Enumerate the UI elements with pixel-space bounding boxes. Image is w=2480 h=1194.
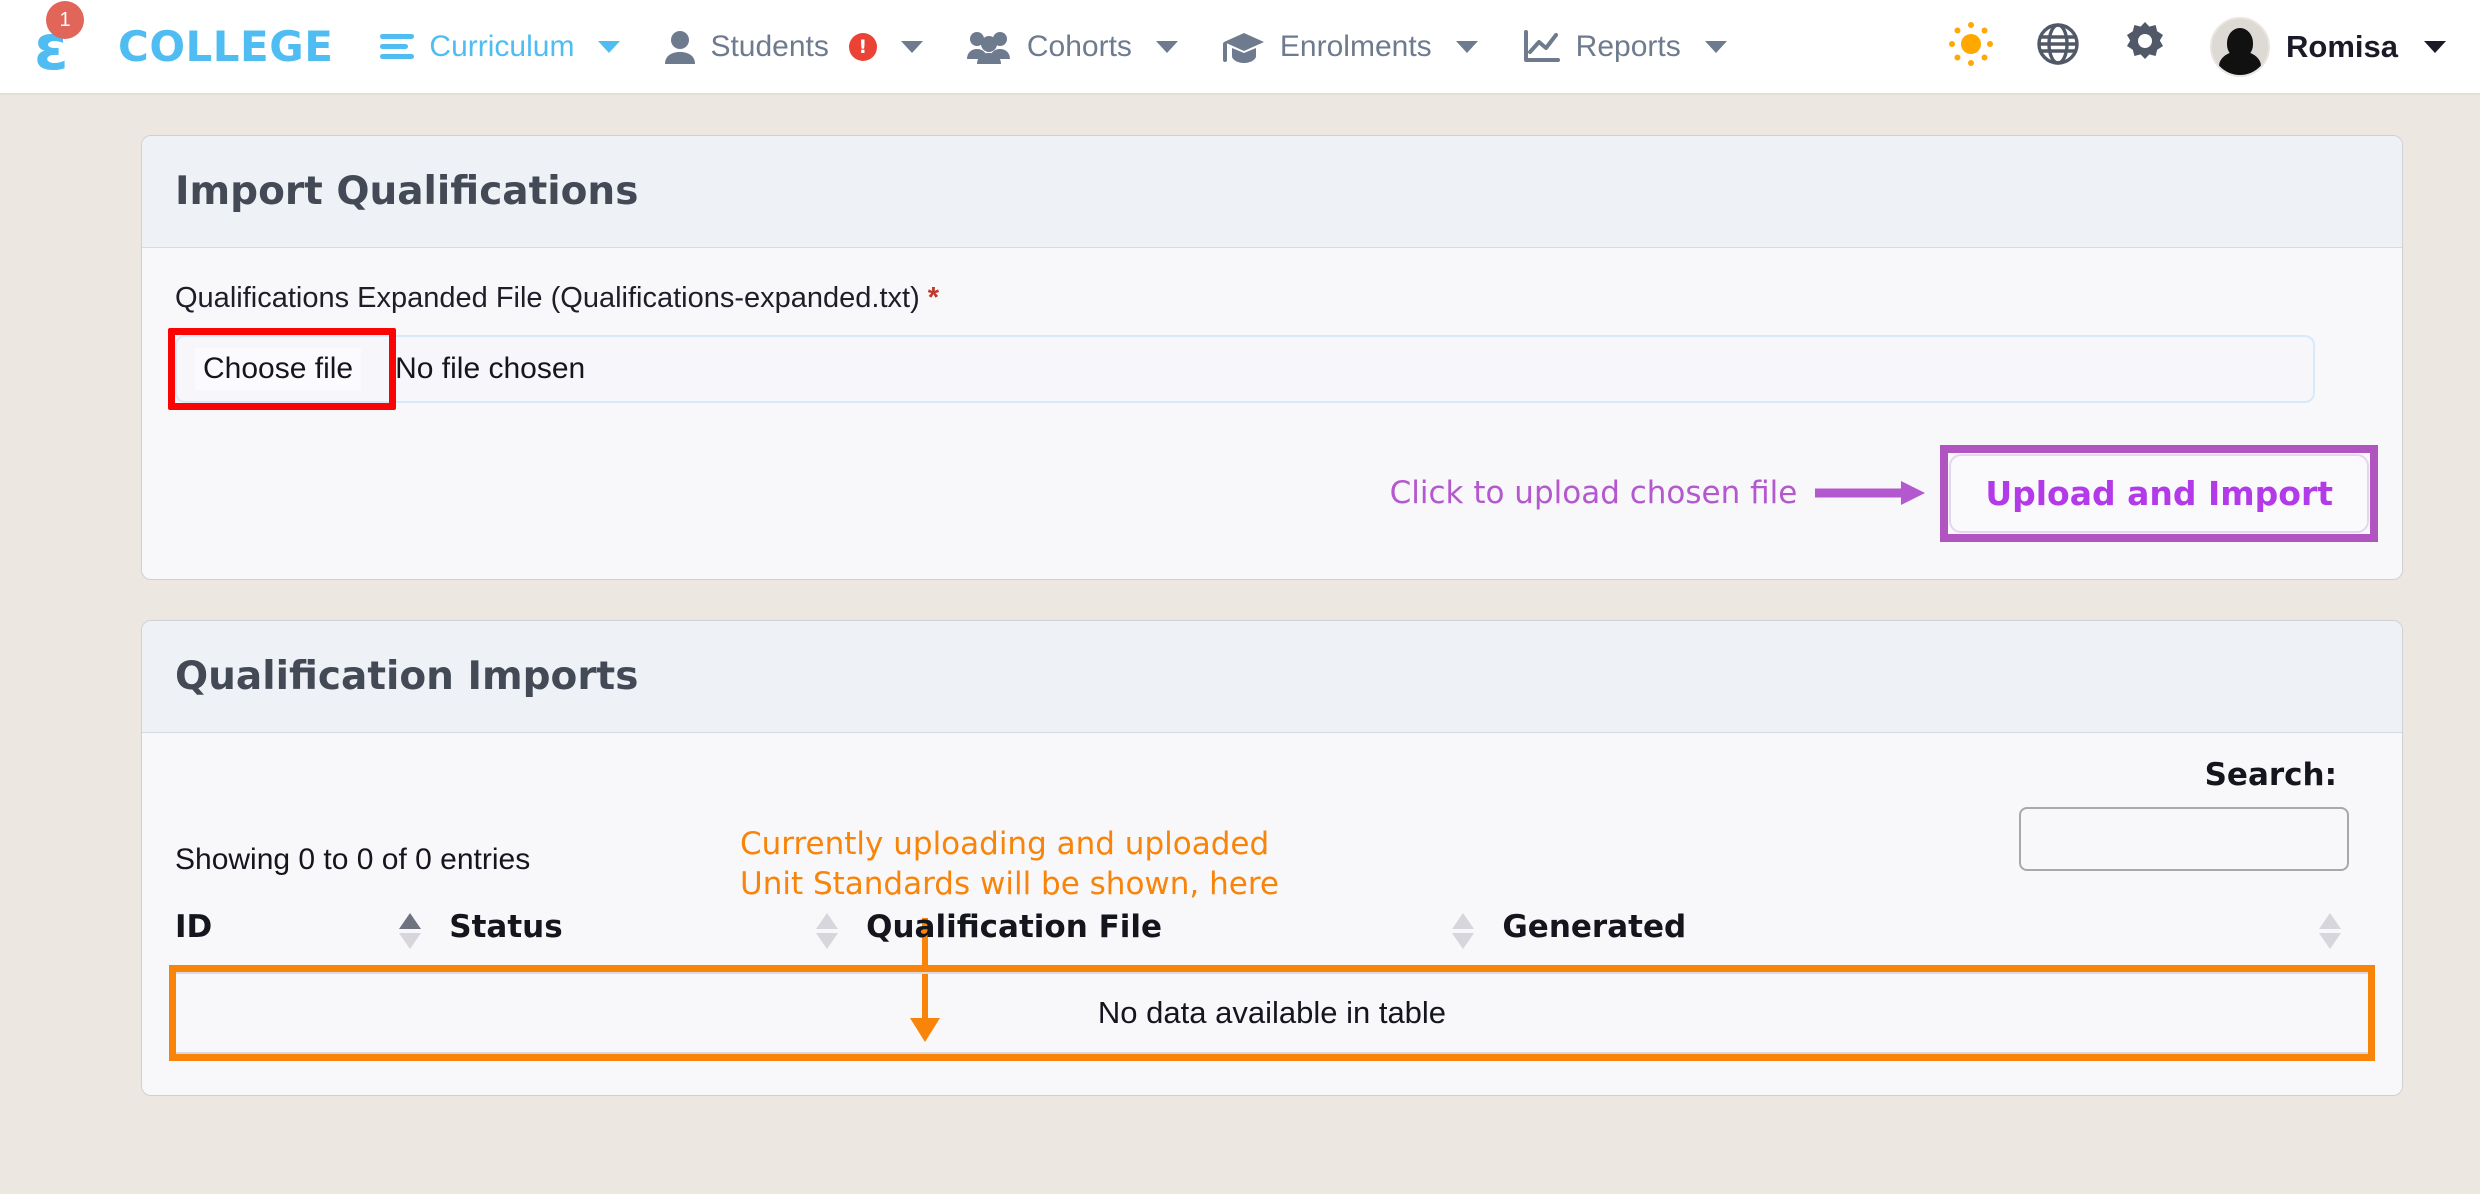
column-label-generated: Generated <box>1502 909 1686 945</box>
annotation-upload-text: Click to upload chosen file <box>1390 475 1798 511</box>
column-header-id[interactable]: ID <box>175 909 449 971</box>
app-logo[interactable]: ε 1 <box>10 0 96 94</box>
table-header-row: ID Status Qualification File Genera <box>175 909 2369 971</box>
chevron-down-icon <box>1705 41 1727 53</box>
chevron-down-icon <box>901 41 923 53</box>
user-menu[interactable]: Romisa <box>2210 17 2446 77</box>
import-qualifications-card: Import Qualifications Qualifications Exp… <box>141 135 2403 580</box>
import-card-body: Qualifications Expanded File (Qualificat… <box>142 248 2402 579</box>
nav-item-students[interactable]: Students ! <box>664 30 922 64</box>
topbar-tools: Romisa <box>1948 17 2480 77</box>
chevron-down-icon <box>1156 41 1178 53</box>
column-header-status[interactable]: Status <box>449 909 866 971</box>
nav-label-cohorts: Cohorts <box>1027 30 1132 64</box>
nav-label-enrolments: Enrolments <box>1280 30 1432 64</box>
hamburger-menu-icon <box>379 32 415 62</box>
nav-item-reports[interactable]: Reports <box>1522 30 1727 64</box>
imports-card-title: Qualification Imports <box>175 654 2402 699</box>
sun-icon[interactable] <box>1948 21 1994 72</box>
brand-title: COLLEGE <box>118 22 333 71</box>
upload-row: Click to upload chosen file Upload and I… <box>175 443 2369 543</box>
nav-label-students: Students <box>710 30 828 64</box>
chevron-down-icon <box>1456 41 1478 53</box>
students-alert-badge: ! <box>849 33 877 61</box>
upload-and-import-button[interactable]: Upload and Import <box>1949 454 2369 533</box>
imports-card-header: Qualification Imports <box>142 621 2402 733</box>
search-input[interactable] <box>2019 807 2349 871</box>
nav-label-curriculum: Curriculum <box>429 30 574 64</box>
nav-item-cohorts[interactable]: Cohorts <box>967 30 1178 64</box>
column-label-id: ID <box>175 909 212 945</box>
person-icon <box>664 30 696 64</box>
sort-icon-status[interactable] <box>816 913 838 953</box>
table-empty-message: No data available in table <box>175 971 2369 1055</box>
graduation-cap-icon <box>1222 30 1266 64</box>
file-field-label-text: Qualifications Expanded File (Qualificat… <box>175 282 920 314</box>
logo-notification-badge: 1 <box>46 1 84 39</box>
gear-icon[interactable] <box>2122 21 2168 72</box>
annotation-table-line-1: Currently uploading and uploaded <box>740 825 1279 865</box>
sort-icon-id[interactable] <box>399 913 421 953</box>
user-avatar-icon <box>2210 17 2270 77</box>
page-title: Import Qualifications <box>175 169 2402 214</box>
qualification-file-input[interactable]: Choose file No file chosen <box>175 335 2315 403</box>
annotation-purple-arrow-icon <box>1815 479 1927 507</box>
chevron-down-icon <box>598 41 620 53</box>
column-label-qualification-file: Qualification File <box>866 909 1162 945</box>
empty-table-row-wrapper: No data available in table <box>175 971 2369 1055</box>
chevron-down-icon <box>2424 41 2446 53</box>
upload-button-wrapper: Upload and Import <box>1949 454 2369 533</box>
user-name-label: Romisa <box>2286 29 2398 65</box>
import-card-header: Import Qualifications <box>142 136 2402 248</box>
file-field-label: Qualifications Expanded File (Qualificat… <box>175 282 2369 315</box>
sort-icon-qualification-file[interactable] <box>1452 913 1474 953</box>
chart-line-icon <box>1522 30 1562 64</box>
column-label-status: Status <box>449 909 562 945</box>
annotation-table-text: Currently uploading and uploaded Unit St… <box>740 825 1279 904</box>
required-asterisk: * <box>928 282 939 314</box>
sort-icon-generated[interactable] <box>2319 913 2341 953</box>
qualification-imports-table: ID Status Qualification File Genera <box>175 909 2369 971</box>
globe-icon[interactable] <box>2036 22 2080 71</box>
column-header-generated[interactable]: Generated <box>1502 909 2369 971</box>
choose-file-button[interactable]: Choose file <box>195 348 361 390</box>
column-header-qualification-file[interactable]: Qualification File <box>866 909 1502 971</box>
annotation-table-line-2: Unit Standards will be shown, here <box>740 865 1279 905</box>
table-head: ID Status Qualification File Genera <box>175 909 2369 971</box>
file-input-row: Choose file No file chosen <box>175 335 2369 403</box>
nav-label-reports: Reports <box>1576 30 1681 64</box>
nav-item-enrolments[interactable]: Enrolments <box>1222 30 1478 64</box>
page-content: Import Qualifications Qualifications Exp… <box>0 95 2480 1096</box>
people-group-icon <box>967 30 1013 64</box>
file-chosen-status: No file chosen <box>395 352 585 386</box>
qualification-imports-card: Qualification Imports Search: Currently … <box>141 620 2403 1096</box>
imports-card-body: Search: Currently uploading and uploaded… <box>142 733 2402 1095</box>
top-navigation-bar: ε 1 COLLEGE Curriculum Students ! <box>0 0 2480 95</box>
nav-item-curriculum[interactable]: Curriculum <box>379 30 620 64</box>
search-label: Search: <box>2205 757 2337 793</box>
